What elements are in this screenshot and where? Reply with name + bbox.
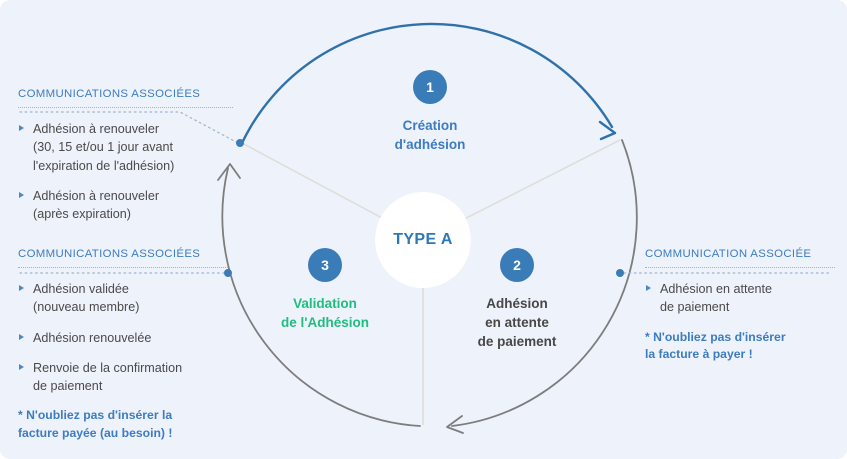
step-2-label: Adhésion en attente de paiement (432, 294, 602, 351)
comms-block-validated-note: * N'oubliez pas d'insérer la facture pay… (18, 407, 230, 442)
step-node-3[interactable]: 3 Validation de l'Adhésion (240, 248, 410, 332)
comms-block-validated-list: Adhésion validée (nouveau membre) Adhési… (18, 280, 230, 395)
step-node-1[interactable]: 1 Création d'adhésion (345, 70, 515, 154)
comms-block-pending-divider (645, 267, 835, 268)
list-item: Adhésion à renouveler (30, 15 et/ou 1 jo… (18, 120, 233, 175)
step-2-badge: 2 (500, 248, 534, 282)
comms-block-validated-title: COMMUNICATIONS ASSOCIÉES (18, 248, 230, 260)
step-node-2[interactable]: 2 Adhésion en attente de paiement (432, 248, 602, 351)
comms-block-pending-list: Adhésion en attente de paiement (645, 280, 835, 317)
comms-block-pending-note: * N'oubliez pas d'insérer la facture à p… (645, 329, 835, 364)
diagram-canvas: TYPE A 1 Création d'adhésion 2 Adhésion … (0, 0, 847, 459)
step-1-label: Création d'adhésion (345, 116, 515, 154)
list-item: Renvoie de la confirmation de paiement (18, 359, 230, 396)
comms-block-validated: COMMUNICATIONS ASSOCIÉES Adhésion validé… (18, 248, 230, 443)
step-3-badge: 3 (308, 248, 342, 282)
comms-block-renew-divider (18, 107, 233, 108)
step-3-label: Validation de l'Adhésion (240, 294, 410, 332)
list-item: Adhésion à renouveler (après expiration) (18, 187, 233, 224)
list-item: Adhésion renouvelée (18, 329, 230, 347)
list-item: Adhésion en attente de paiement (645, 280, 835, 317)
comms-block-validated-divider (18, 267, 230, 268)
arc-step1-arrowhead (600, 122, 615, 139)
comms-block-renew-title: COMMUNICATIONS ASSOCIÉES (18, 88, 233, 100)
comms-block-pending: COMMUNICATION ASSOCIÉE Adhésion en atten… (645, 248, 835, 364)
comms-block-renew-list: Adhésion à renouveler (30, 15 et/ou 1 jo… (18, 120, 233, 223)
list-item: Adhésion validée (nouveau membre) (18, 280, 230, 317)
comms-block-pending-title: COMMUNICATION ASSOCIÉE (645, 248, 835, 260)
connector-pending-dot (616, 269, 624, 277)
step-1-badge: 1 (413, 70, 447, 104)
center-hub-label: TYPE A (393, 231, 453, 249)
connector-renew-dot (236, 139, 244, 147)
comms-block-renew: COMMUNICATIONS ASSOCIÉES Adhésion à reno… (18, 88, 233, 235)
